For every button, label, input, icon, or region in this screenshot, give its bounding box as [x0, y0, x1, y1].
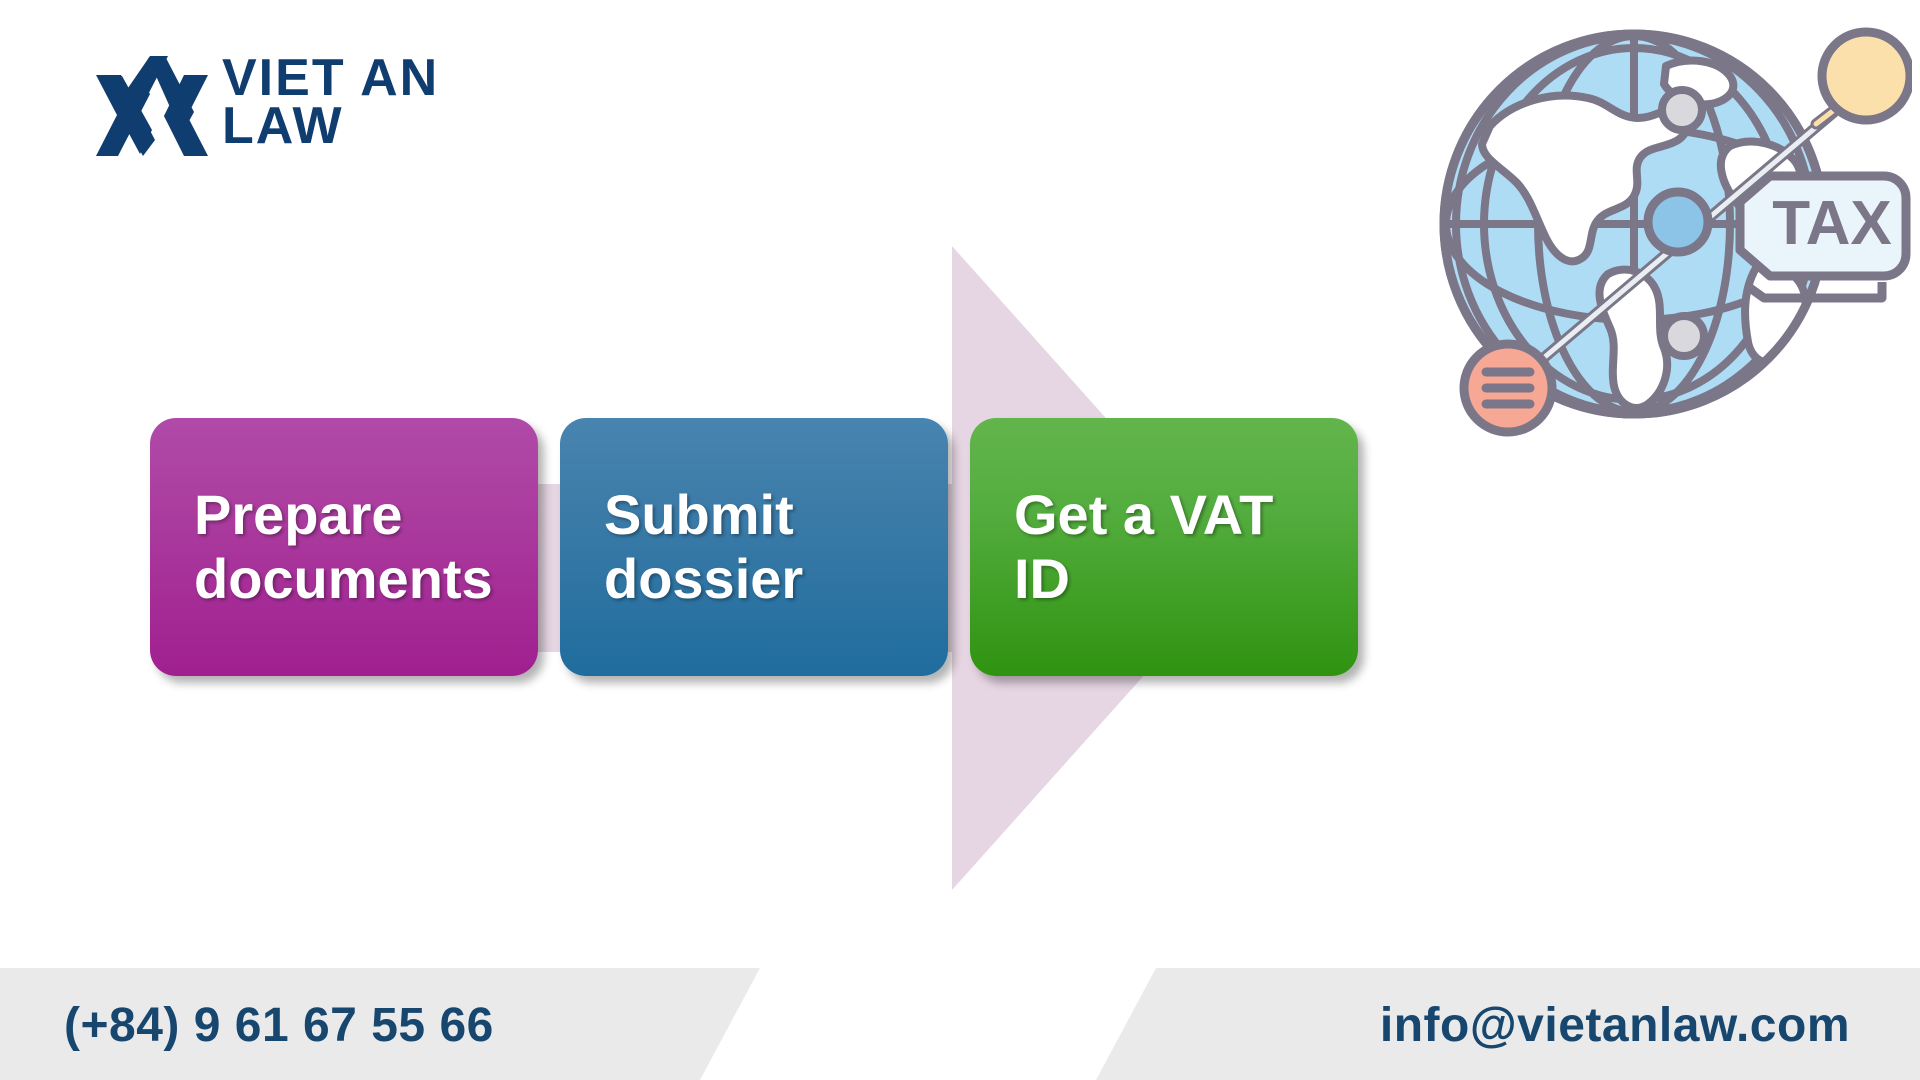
process-step-prepare-documents[interactable]: Prepare documents: [150, 418, 538, 676]
vietan-interlocking-chevrons-icon: [96, 48, 208, 158]
brand-logo: VIET AN LAW: [96, 48, 439, 158]
footer-phone-number[interactable]: (+84) 9 61 67 55 66: [64, 998, 494, 1053]
circle-node-icon: [1648, 192, 1708, 252]
process-diagram: Prepare documents Submit dossier Get a V…: [240, 228, 1240, 908]
circle-node-icon: [1664, 316, 1704, 356]
brand-name-line2: LAW: [222, 103, 439, 151]
process-step-get-vat-id[interactable]: Get a VAT ID: [970, 418, 1358, 676]
footer-contact-bar: (+84) 9 61 67 55 66 info@vietanlaw.com: [0, 968, 1920, 1080]
brand-name-line1: VIET AN: [222, 55, 439, 103]
brand-wordmark: VIET AN LAW: [222, 55, 439, 151]
menu-lines-circle-icon: [1464, 344, 1552, 432]
process-step-label: Submit dossier: [604, 483, 803, 611]
globe-tax-illustration: TAX: [1412, 6, 1912, 506]
circle-node-icon: [1662, 90, 1702, 130]
circle-node-icon: [1822, 32, 1910, 120]
process-step-label: Get a VAT ID: [1014, 483, 1273, 611]
process-step-submit-dossier[interactable]: Submit dossier: [560, 418, 948, 676]
process-step-list: Prepare documents Submit dossier Get a V…: [150, 418, 1358, 676]
tax-label: TAX: [1772, 189, 1891, 258]
footer-email-address[interactable]: info@vietanlaw.com: [1380, 998, 1850, 1053]
process-step-label: Prepare documents: [194, 483, 493, 611]
